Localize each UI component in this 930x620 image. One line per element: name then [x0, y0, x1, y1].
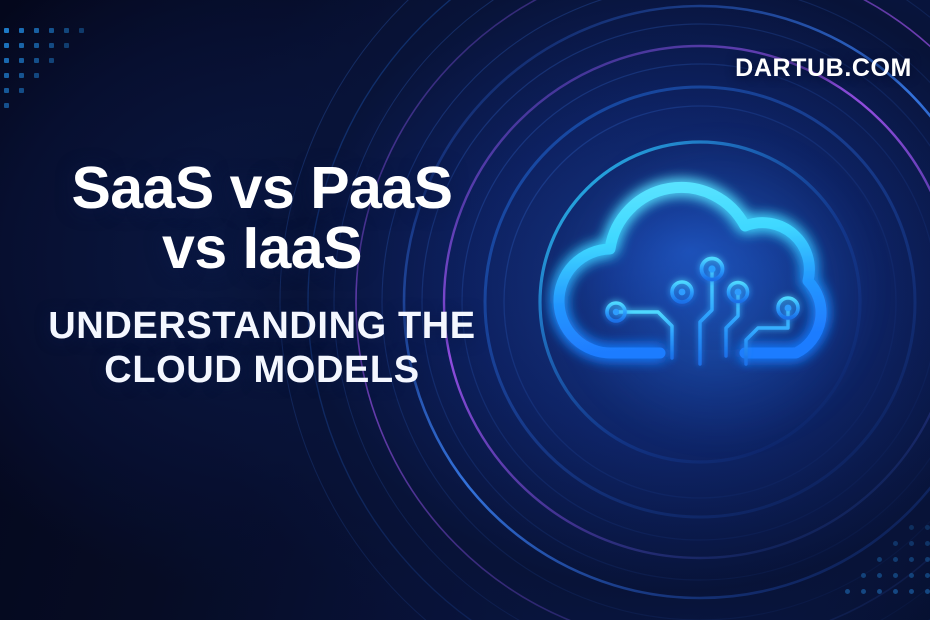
- dot-grid-top-left: [4, 28, 124, 108]
- title-line-2: vs IaaS: [8, 218, 516, 278]
- page-subtitle: UNDERSTANDING THE CLOUD MODELS: [8, 304, 516, 392]
- headline-block: SaaS vs PaaS vs IaaS UNDERSTANDING THE C…: [8, 158, 516, 393]
- banner-canvas: DARTUB.COM SaaS vs PaaS vs IaaS UNDERSTA…: [0, 0, 930, 620]
- page-title: SaaS vs PaaS vs IaaS: [8, 158, 516, 278]
- site-watermark: DARTUB.COM: [735, 54, 912, 83]
- subtitle-line-2: CLOUD MODELS: [8, 348, 516, 392]
- title-line-1: SaaS vs PaaS: [71, 155, 452, 221]
- dot-grid-bottom-right: [845, 525, 930, 605]
- subtitle-line-1: UNDERSTANDING THE: [48, 305, 476, 347]
- cloud-circuit-icon: [540, 150, 870, 450]
